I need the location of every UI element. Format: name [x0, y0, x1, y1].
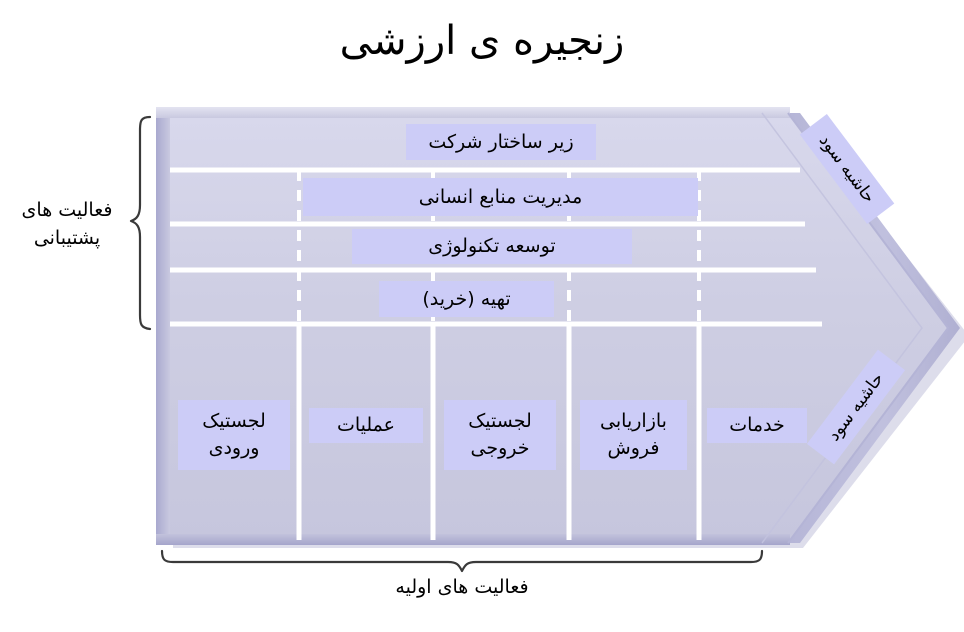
primary-col-inbound-logistics: لجستیک ورودی	[178, 400, 290, 470]
primary-col-outbound-logistics: لجستیک خروجی	[444, 400, 556, 470]
primary-col-marketing-sales: بازاریابی فروش	[580, 400, 687, 470]
primary-col-outbound-logistics-line2: خروجی	[471, 435, 530, 462]
primary-col-operations-line1: عملیات	[337, 412, 395, 439]
primary-col-services: خدمات	[707, 408, 807, 443]
primary-col-outbound-logistics-line1: لجستیک	[468, 408, 531, 435]
support-row-hr: مدیریت منابع انسانی	[303, 178, 698, 216]
support-activities-label-line2: پشتیبانی	[8, 224, 126, 252]
margin-label-lower: حاشیه سود	[807, 350, 905, 465]
margin-label-upper: حاشیه سود	[800, 114, 895, 224]
primary-col-marketing-sales-line2: فروش	[608, 435, 660, 462]
support-row-procurement: تهیه (خرید)	[379, 281, 554, 317]
primary-col-inbound-logistics-line2: ورودی	[209, 435, 260, 462]
support-row-infrastructure: زیر ساختار شرکت	[406, 124, 596, 160]
labels-layer: زیر ساختار شرکت مدیریت منابع انسانی توسع…	[0, 0, 964, 632]
value-chain-diagram: زنجیره ی ارزشی	[0, 0, 964, 632]
primary-activities-label: فعالیت های اولیه	[282, 576, 642, 598]
support-row-technology: توسعه تکنولوژی	[352, 229, 632, 264]
primary-col-services-line1: خدمات	[729, 412, 785, 439]
primary-col-operations: عملیات	[309, 408, 423, 443]
primary-col-inbound-logistics-line1: لجستیک	[202, 408, 265, 435]
support-activities-label-line1: فعالیت های	[8, 196, 126, 224]
support-activities-label: فعالیت های پشتیبانی	[8, 196, 126, 252]
primary-col-marketing-sales-line1: بازاریابی	[600, 408, 667, 435]
